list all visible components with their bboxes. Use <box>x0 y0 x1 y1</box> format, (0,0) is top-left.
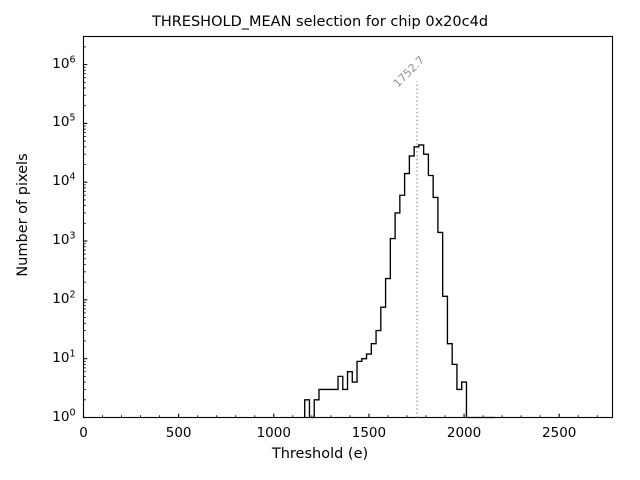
y-tick-exponent: 6 <box>69 54 75 65</box>
y-tick-mantissa: 10 <box>52 232 69 248</box>
y-tick-label: 102 <box>0 291 76 307</box>
histogram-step-outline <box>305 145 495 418</box>
y-tick-exponent: 4 <box>69 172 75 183</box>
y-tick-mantissa: 10 <box>52 173 69 189</box>
y-tick-mantissa: 10 <box>52 114 69 130</box>
y-tick-mantissa: 10 <box>52 350 69 366</box>
axes-frame <box>84 37 613 418</box>
y-tick-label: 100 <box>0 409 76 425</box>
y-tick-mantissa: 10 <box>52 56 69 72</box>
y-tick-exponent: 5 <box>69 113 75 124</box>
y-tick-mantissa: 10 <box>52 409 69 425</box>
x-tick-label: 1000 <box>234 425 314 441</box>
x-tick-label: 0 <box>44 425 124 441</box>
x-tick-label: 2500 <box>519 425 599 441</box>
y-tick-label: 105 <box>0 114 76 130</box>
y-tick-exponent: 1 <box>69 348 75 359</box>
x-tick-label: 500 <box>139 425 219 441</box>
y-tick-label: 106 <box>0 56 76 72</box>
x-tick-label: 1500 <box>329 425 409 441</box>
plot-area <box>0 0 640 480</box>
y-tick-exponent: 0 <box>69 407 75 418</box>
y-tick-exponent: 3 <box>69 231 75 242</box>
figure-canvas: THRESHOLD_MEAN selection for chip 0x20c4… <box>0 0 640 480</box>
x-tick-label: 2000 <box>424 425 504 441</box>
y-tick-label: 101 <box>0 350 76 366</box>
y-tick-exponent: 2 <box>69 289 75 300</box>
y-tick-label: 103 <box>0 232 76 248</box>
y-tick-label: 104 <box>0 173 76 189</box>
y-tick-mantissa: 10 <box>52 291 69 307</box>
